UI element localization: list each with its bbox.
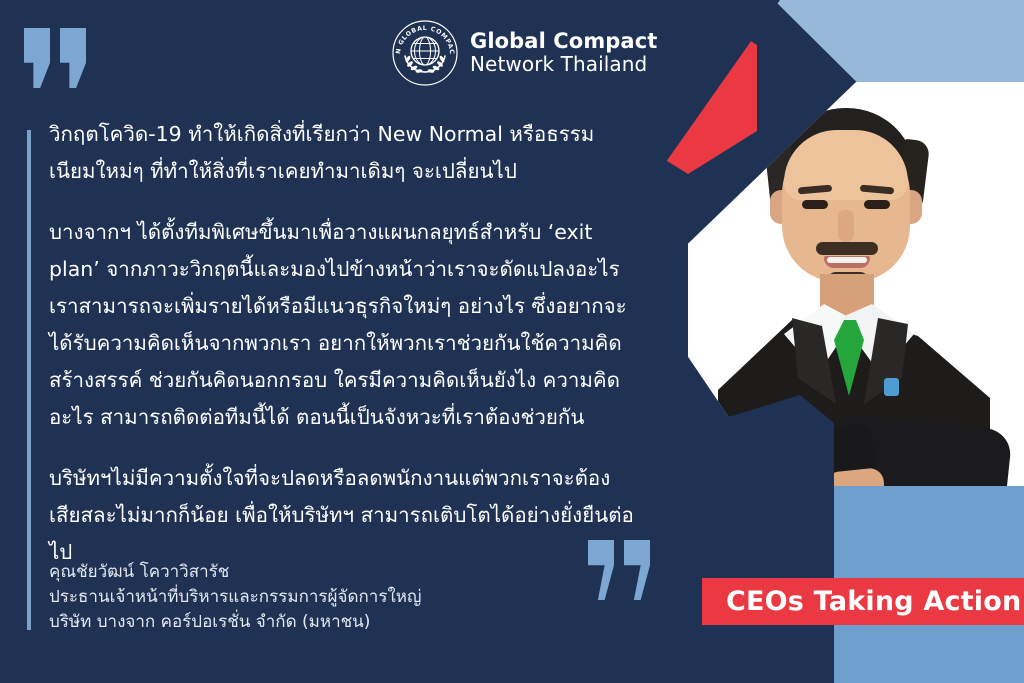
portrait-teeth (827, 257, 867, 263)
logo-line-1: Global Compact (470, 30, 657, 54)
attribution-title: ประธานเจ้าหน้าที่บริหารและกรรมการผู้จัดก… (49, 585, 421, 610)
portrait-moustache (816, 242, 878, 255)
logo-line-2: Network Thailand (470, 53, 657, 76)
poster-canvas: UN GLOBAL COMPACT Global Compact Network… (0, 0, 1024, 683)
portrait-eye-left (802, 200, 828, 209)
quote-paragraph-2: บางจากฯ ได้ตั้งทีมพิเศษขึ้นมาเพื่อวางแผน… (49, 214, 634, 436)
portrait-eye-right (864, 200, 890, 209)
portrait-lapel-pin (884, 378, 899, 396)
un-global-compact-emblem-icon: UN GLOBAL COMPACT (392, 20, 458, 86)
left-accent-rule (27, 130, 31, 630)
ceos-taking-action-label: CEOs Taking Action (726, 586, 1021, 617)
navy-wedge-bottom (604, 395, 834, 683)
logo-wordmark: Global Compact Network Thailand (470, 30, 657, 76)
ceos-taking-action-badge: CEOs Taking Action (702, 578, 1024, 625)
quote-paragraph-1: วิกฤตโควิด-19 ทำให้เกิดสิ่งที่เรียกว่า N… (49, 116, 634, 190)
attribution-organization: บริษัท บางจาก คอร์ปอเรชั่น จำกัด (มหาชน) (49, 610, 421, 635)
portrait-nose (838, 210, 854, 242)
global-compact-logo: UN GLOBAL COMPACT Global Compact Network… (392, 20, 657, 86)
quote-text: วิกฤตโควิด-19 ทำให้เกิดสิ่งที่เรียกว่า N… (49, 116, 634, 571)
opening-quote-icon (24, 28, 96, 88)
quote-paragraph-3: บริษัทฯไม่มีความตั้งใจที่จะปลดหรือลดพนัก… (49, 460, 634, 571)
attribution-block: คุณชัยวัฒน์ โควาวิสารัช ประธานเจ้าหน้าที… (49, 560, 421, 635)
attribution-name: คุณชัยวัฒน์ โควาวิสารัช (49, 560, 421, 585)
